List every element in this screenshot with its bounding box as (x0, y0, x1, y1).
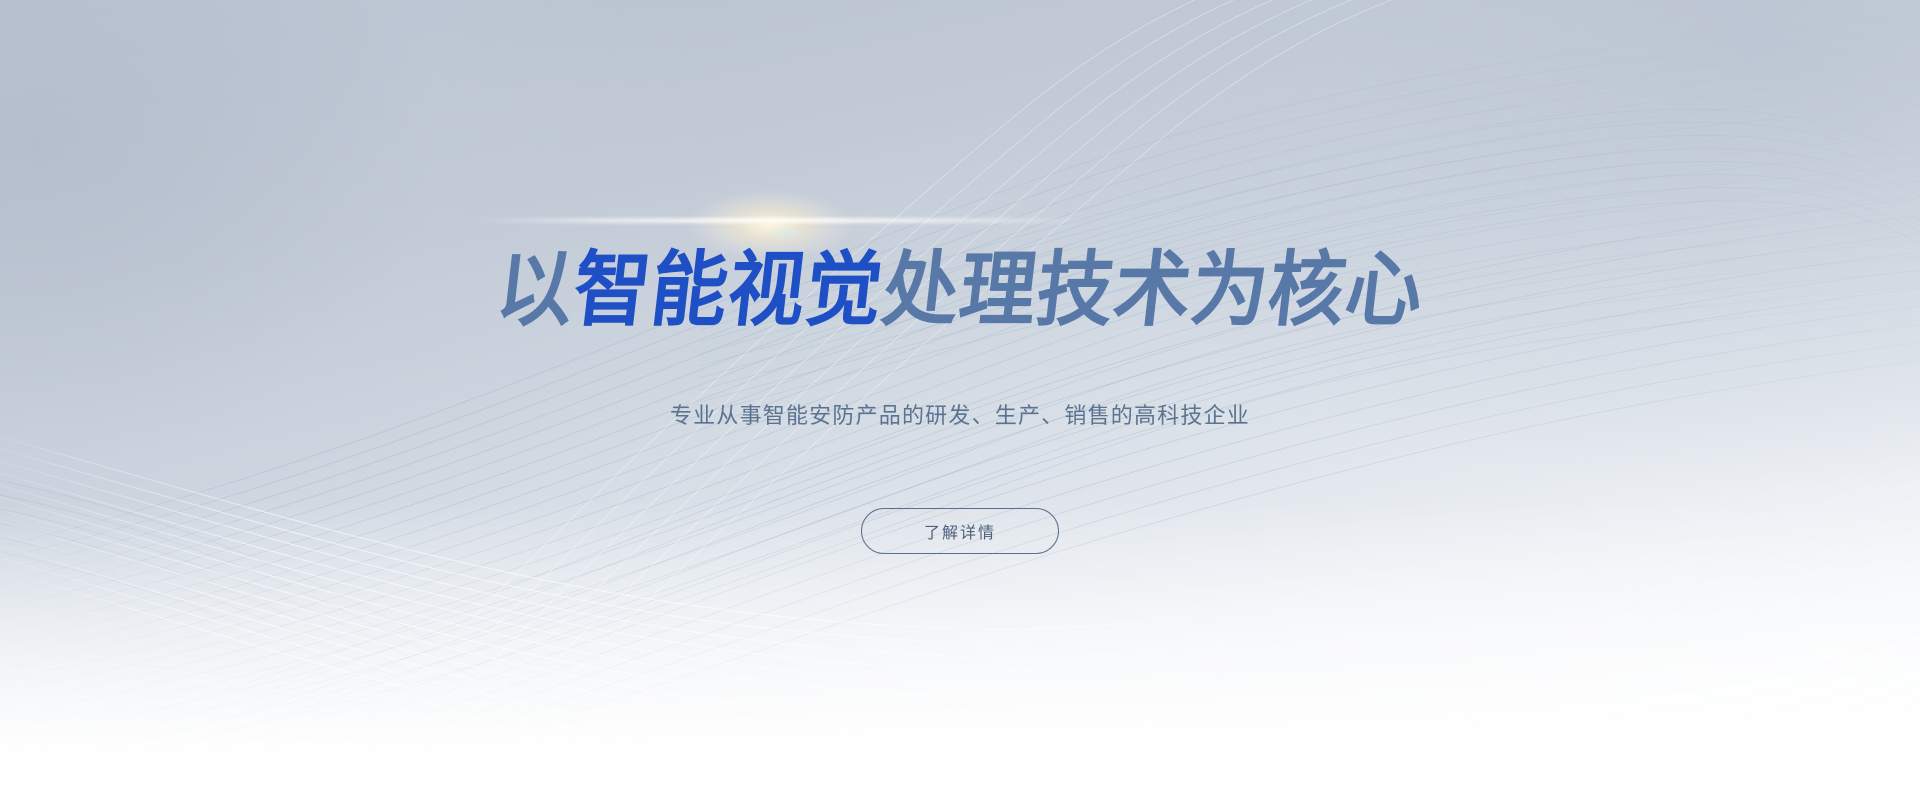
page-title: 以智能视觉处理技术为核心 (462, 250, 1458, 332)
hero-banner: 以智能视觉处理技术为核心 专业从事智能安防产品的研发、生产、销售的高科技企业 了… (0, 0, 1920, 800)
learn-more-button[interactable]: 了解详情 (861, 508, 1059, 554)
page-title-segment-3: 处理技术为核心 (878, 250, 1428, 332)
hero-content: 以智能视觉处理技术为核心 专业从事智能安防产品的研发、生产、销售的高科技企业 了… (0, 0, 1920, 800)
page-subtitle: 专业从事智能安防产品的研发、生产、销售的高科技企业 (0, 398, 1920, 430)
page-title-inner: 以智能视觉处理技术为核心 (492, 250, 1428, 332)
page-title-segment-2-highlight: 智能视觉 (569, 250, 887, 332)
page-title-segment-1: 以 (492, 250, 579, 332)
